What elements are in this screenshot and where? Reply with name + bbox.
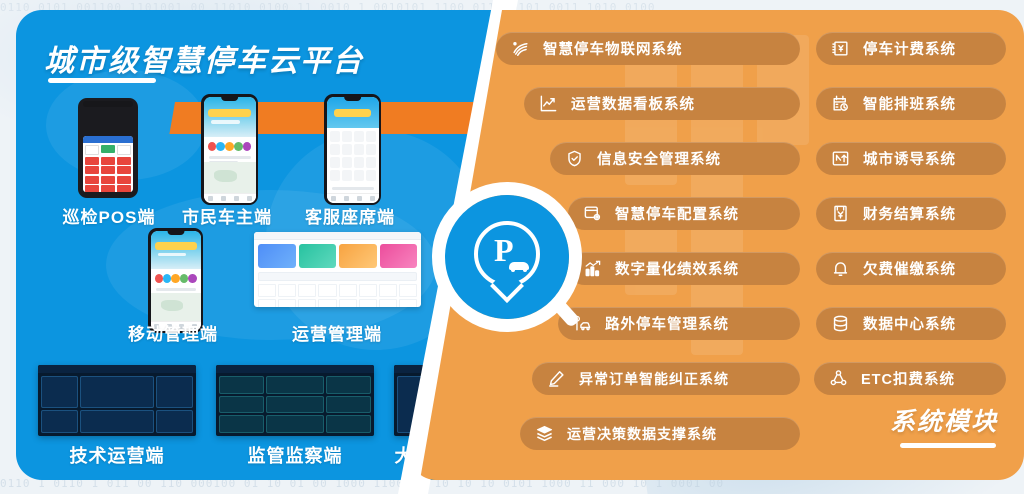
device-label-supervision: 监管监察端 [234,442,356,468]
iot-signal-icon [507,36,533,62]
device-label-mobile-admin: 移动管理端 [112,320,234,345]
module-label: ETC扣费系统 [861,368,955,389]
pencil-edit-icon [543,366,569,392]
layers-stack-icon [531,421,557,447]
bell-icon [827,256,853,282]
module-label: 数据中心系统 [863,313,956,334]
module-pill-offstreet-parking[interactable]: 路外停车管理系统 [558,307,800,340]
device-label-operations-console: 运营管理端 [276,320,398,345]
module-label: 欠费催缴系统 [863,258,956,279]
module-label: 异常订单智能纠正系统 [579,369,729,389]
module-label: 数字量化绩效系统 [615,258,739,279]
share-nodes-icon [825,366,851,392]
bar-chart-up-icon [579,256,605,282]
guide-arrow-icon [827,146,853,172]
module-label: 城市诱导系统 [863,148,956,169]
right-panel-heading-underline [900,443,996,448]
module-pill-city-guidance[interactable]: 城市诱导系统 [816,142,1006,175]
device-dashboard-supervision [216,365,374,436]
module-pill-dashboard[interactable]: 运营数据看板系统 [524,87,800,120]
module-label: 运营决策数据支撑系统 [567,424,717,444]
parking-pin-icon: P [474,221,540,287]
trend-chart-icon [535,91,561,117]
module-pill-scheduling[interactable]: 智能排班系统 [816,87,1006,120]
device-label-tech-ops: 技术运营端 [56,442,178,468]
module-label: 财务结算系统 [863,203,956,224]
device-phone-citizen [201,94,258,205]
module-label: 信息安全管理系统 [597,148,721,169]
module-label: 智慧停车配置系统 [615,203,739,224]
module-pill-arrears-reminder[interactable]: 欠费催缴系统 [816,252,1006,285]
device-phone-mobile-admin [148,228,203,333]
device-dashboard-tech-ops [38,365,196,436]
module-pill-data-center[interactable]: 数据中心系统 [816,307,1006,340]
right-panel-heading: 系统模块 [890,402,998,438]
device-phone-service-agent [324,94,381,205]
logo-letter: P [494,234,514,266]
device-label-service-agent: 客服座席端 [289,203,411,228]
module-pill-iot[interactable]: 智慧停车物联网系统 [496,32,800,65]
device-web-console-operations [254,232,421,307]
calendar-clock-icon [827,91,853,117]
module-pill-finance[interactable]: 财务结算系统 [816,197,1006,230]
module-label: 运营数据看板系统 [571,93,695,114]
shield-check-icon [561,146,587,172]
module-pill-config[interactable]: 智慧停车配置系统 [568,197,800,230]
device-pos-terminal [78,98,138,198]
poster-canvas: 0110 0101 001100 1101001 00 11010 0100 1… [0,0,1024,494]
module-label: 智慧停车物联网系统 [543,38,683,59]
page-title: 城市级智慧停车云平台 [44,36,364,80]
logo-disc: P [445,195,569,319]
center-logo: P [432,182,582,332]
module-pill-performance[interactable]: 数字量化绩效系统 [568,252,800,285]
module-label: 路外停车管理系统 [605,313,729,334]
module-pill-billing[interactable]: 停车计费系统 [816,32,1006,65]
module-pill-etc-deduction[interactable]: ETC扣费系统 [814,362,1006,395]
module-label: 智能排班系统 [863,93,956,114]
device-label-citizen: 市民车主端 [166,203,288,228]
module-label: 停车计费系统 [863,38,956,59]
window-gear-icon [579,201,605,227]
database-icon [827,311,853,337]
module-pill-security[interactable]: 信息安全管理系统 [550,142,800,175]
car-icon [509,262,529,270]
module-pill-order-correction[interactable]: 异常订单智能纠正系统 [532,362,800,395]
device-label-pos: 巡检POS端 [48,203,170,228]
module-pill-decision-support[interactable]: 运营决策数据支撑系统 [520,417,800,450]
yuan-document-icon [827,201,853,227]
yuan-receipt-icon [827,36,853,62]
title-underline [48,78,156,83]
